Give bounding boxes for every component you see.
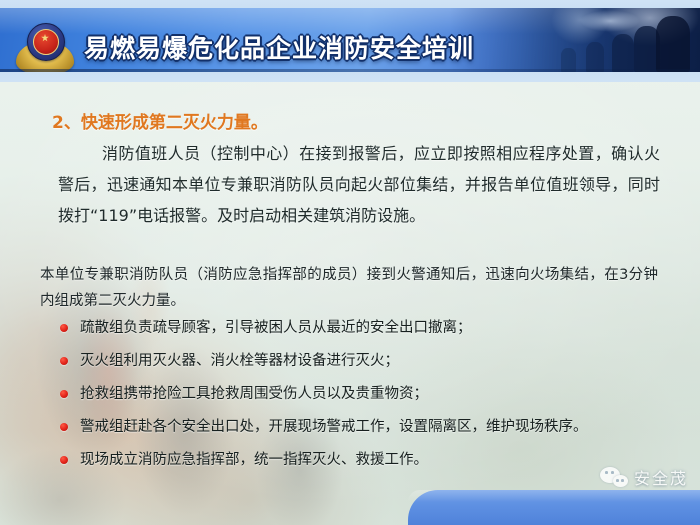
list-item: 抢救组携带抢险工具抢救周围受伤人员以及贵重物资； [58, 384, 678, 404]
wechat-dot [611, 471, 614, 474]
list-item: 现场成立消防应急指挥部，统一指挥灭火、救援工作。 [58, 450, 678, 470]
banner-title: 易燃易爆危化品企业消防安全培训 [84, 27, 474, 67]
wechat-dot [605, 471, 608, 474]
bottom-blue-band [408, 490, 700, 525]
light-beam [580, 10, 640, 32]
firefighter-silhouette [656, 16, 690, 72]
paragraph-main: 消防值班人员（控制中心）在接到报警后，应立即按照相应程序处置，确认火警后，迅速通… [58, 138, 660, 231]
firefighter-silhouette [586, 42, 604, 72]
firefighter-photo [450, 8, 700, 72]
header-banner: 易燃易爆危化品企业消防安全培训 [0, 8, 700, 72]
wechat-dot [621, 479, 624, 482]
paragraph-sub: 本单位专兼职消防队员（消防应急指挥部的成员）接到火警通知后，迅速向火场集结，在3… [40, 262, 658, 314]
watermark-text: 安全茂 [634, 465, 688, 489]
header-area: 易燃易爆危化品企业消防安全培训 [0, 0, 700, 82]
wechat-logo-icon [600, 467, 628, 487]
bullet-list: 疏散组负责疏导顾客，引导被困人员从最近的安全出口撤离； 灭火组利用灭火器、消火栓… [58, 318, 678, 483]
slide-canvas: 易燃易爆危化品企业消防安全培训 2、快速形成第二灭火力量。 消防值班人员（控制中… [0, 0, 700, 525]
list-item: 疏散组负责疏导顾客，引导被困人员从最近的安全出口撤离； [58, 318, 678, 338]
firefighter-silhouette [561, 48, 576, 72]
wechat-dot [616, 479, 619, 482]
list-item: 灭火组利用灭火器、消火栓等器材设备进行灭火； [58, 351, 678, 371]
firefighter-silhouette [612, 34, 634, 72]
police-badge-icon [16, 21, 74, 72]
badge-inner-circle [33, 29, 59, 55]
watermark: 安全茂 [600, 465, 688, 489]
list-item: 警戒组赶赴各个安全出口处，开展现场警戒工作，设置隔离区，维护现场秩序。 [58, 417, 678, 437]
section-heading: 2、快速形成第二灭火力量。 [52, 108, 268, 133]
